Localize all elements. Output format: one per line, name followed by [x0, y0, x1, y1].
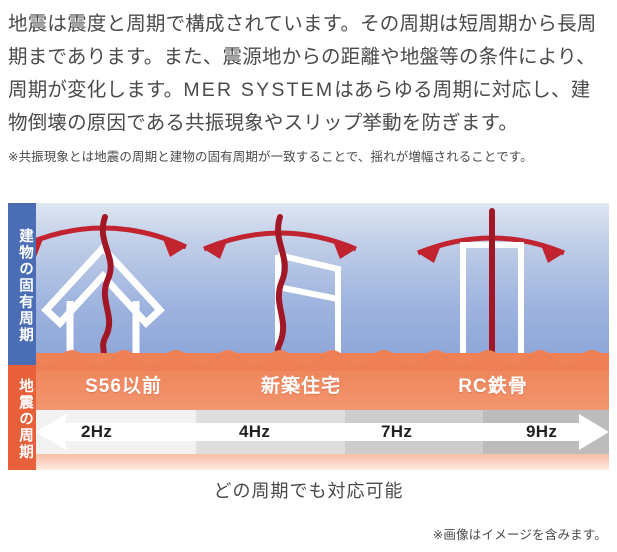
ground-wave-edge: [8, 345, 609, 371]
building-group-2: [204, 217, 356, 356]
frequency-tick-2: 4Hz: [239, 422, 270, 442]
frequency-tick-1: 2Hz: [81, 422, 112, 442]
image-footnote: ※画像はイメージを含みます。: [433, 524, 607, 543]
building-group-3: [418, 211, 564, 355]
diagram-caption: どの周期でも対応可能: [0, 477, 617, 503]
sidebar-building-period: 建物の固有周期: [8, 203, 36, 365]
building-label-3: RC鉄骨: [408, 371, 578, 398]
building-group-1: [20, 217, 186, 355]
sidebar-earthquake-period: 地震の周期: [8, 365, 36, 470]
ground-wave-shape: [8, 350, 609, 371]
buildings-layer: [8, 203, 609, 365]
resonance-diagram: S56以前 新築住宅 RC鉄骨 建物の固有周期 地震の周期 2Hz 4Hz 7H…: [8, 203, 609, 470]
frequency-scale: 2Hz 4Hz 7Hz 9Hz: [36, 410, 609, 454]
frequency-tick-4: 9Hz: [526, 422, 557, 442]
intro-paragraph: 地震は震度と周期で構成されています。その周期は短周期から長周期まであります。また…: [8, 8, 610, 140]
frequency-arrow: [36, 410, 609, 454]
system-name-text: MER SYSTEM: [183, 79, 334, 101]
building-label-1: S56以前: [36, 371, 211, 398]
double-headed-arrow-shape: [36, 414, 609, 450]
frequency-tick-3: 7Hz: [381, 422, 412, 442]
building-label-2: 新築住宅: [221, 371, 381, 398]
resonance-note: ※共振現象とは地震の周期と建物の固有周期が一致することで、揺れが増幅されることで…: [8, 148, 612, 166]
